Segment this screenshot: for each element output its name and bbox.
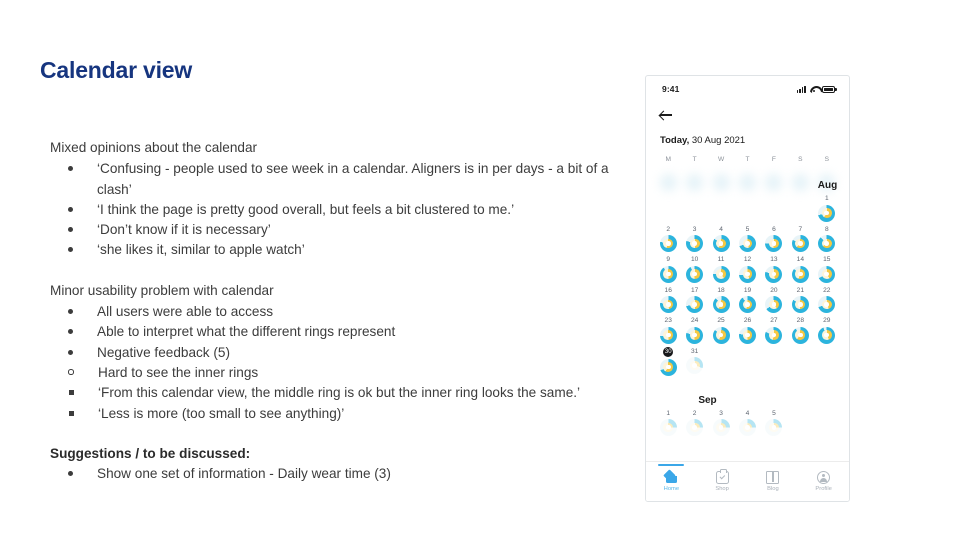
day-ring[interactable]: [686, 327, 703, 344]
nav-back-row: [646, 105, 849, 127]
calendar-day-cell[interactable]: 4: [734, 409, 760, 437]
ring-core: [824, 241, 829, 246]
ring-core: [666, 333, 671, 338]
day-number: 21: [797, 286, 804, 295]
list-item: Show one set of information - Daily wear…: [50, 464, 630, 484]
day-ring[interactable]: [713, 419, 730, 436]
day-ring[interactable]: [765, 296, 782, 313]
calendar-day-cell[interactable]: 5: [734, 225, 760, 253]
wifi-icon: [810, 86, 819, 93]
day-number: 8: [825, 225, 829, 234]
calendar-day-cell[interactable]: 17: [681, 286, 707, 314]
calendar-day-cell[interactable]: 2: [681, 409, 707, 437]
tab-blog[interactable]: Blog: [748, 471, 799, 493]
day-ring[interactable]: [739, 296, 756, 313]
notes-body: Mixed opinions about the calendar ‘Confu…: [50, 138, 630, 484]
day-ring[interactable]: [713, 296, 730, 313]
ring-core: [824, 302, 829, 307]
day-ring[interactable]: [765, 235, 782, 252]
day-number: 12: [744, 255, 751, 264]
day-number: 5: [746, 225, 750, 234]
day-number: 27: [770, 316, 777, 325]
day-ring[interactable]: [739, 327, 756, 344]
day-ring[interactable]: [713, 235, 730, 252]
calendar-week-row: 16171819202122: [655, 286, 840, 314]
calendar-day-cell[interactable]: 31: [681, 347, 707, 376]
day-ring[interactable]: [818, 296, 835, 313]
shop-bag-icon: [716, 471, 729, 484]
active-tab-indicator: [658, 464, 684, 466]
list-item: ‘From this calendar view, the middle rin…: [50, 383, 630, 403]
list-item-text: ‘I think the page is pretty good overall…: [97, 202, 514, 217]
day-number: 2: [693, 409, 697, 418]
weekday-label: W: [708, 156, 734, 163]
today-date: 30 Aug 2021: [689, 135, 745, 146]
day-number: 3: [719, 409, 723, 418]
suggestions-heading: Suggestions / to be discussed:: [50, 444, 630, 464]
calendar-grid[interactable]: Aug1234567891011121314151617181920212223…: [646, 172, 849, 461]
tab-label: Home: [664, 486, 679, 492]
calendar-day-cell[interactable]: 15: [814, 255, 840, 283]
calendar-day-cell[interactable]: 1: [655, 409, 681, 437]
list-item: Hard to see the inner rings: [50, 363, 630, 383]
bullet-square-icon: [69, 390, 74, 395]
bullet-disc-icon: [68, 350, 73, 355]
calendar-day-cell[interactable]: 25: [708, 316, 734, 344]
weekday-label: T: [681, 156, 707, 163]
status-time: 9:41: [662, 84, 679, 94]
day-ring[interactable]: [792, 327, 809, 344]
list-item-text: ‘Confusing - people used to see week in …: [97, 161, 609, 196]
calendar-day-cell[interactable]: 21: [787, 286, 813, 314]
day-number: 28: [797, 316, 804, 325]
day-number: 20: [770, 286, 777, 295]
calendar-day-cell[interactable]: 3: [708, 409, 734, 437]
day-number: 24: [691, 316, 698, 325]
bullet-circle-icon: [68, 369, 74, 375]
day-ring[interactable]: [818, 235, 835, 252]
day-ring[interactable]: [818, 327, 835, 344]
weekday-label: M: [655, 156, 681, 163]
list-item: All users were able to access: [50, 302, 630, 322]
day-number: 5: [772, 409, 776, 418]
day-ring[interactable]: [792, 266, 809, 283]
calendar-day-cell[interactable]: 20: [761, 286, 787, 314]
bullet-disc-icon: [68, 247, 73, 252]
day-ring[interactable]: [818, 266, 835, 283]
section1-list: ‘Confusing - people used to see week in …: [50, 159, 630, 260]
status-bar: 9:41: [646, 76, 849, 102]
tab-profile[interactable]: Profile: [798, 471, 849, 493]
day-number: 19: [744, 286, 751, 295]
weekday-label: F: [761, 156, 787, 163]
calendar-day-cell[interactable]: 2: [655, 225, 681, 253]
day-number: 15: [823, 255, 830, 264]
calendar-day-cell[interactable]: 29: [814, 316, 840, 344]
page-title: Calendar view: [40, 57, 192, 84]
slide: Calendar view Mixed opinions about the c…: [0, 0, 960, 540]
ring-core: [798, 333, 803, 338]
calendar-day-cell[interactable]: 12: [734, 255, 760, 283]
tab-label: Profile: [815, 486, 831, 492]
day-number: 30: [663, 347, 674, 358]
ring-core: [692, 241, 697, 246]
list-item-text: All users were able to access: [97, 304, 273, 319]
list-item-text: Able to interpret what the different rin…: [97, 324, 395, 339]
list-item: ‘I think the page is pretty good overall…: [50, 200, 630, 220]
day-number: 4: [719, 225, 723, 234]
calendar-day-cell[interactable]: 8: [814, 225, 840, 253]
ring-core: [666, 425, 671, 430]
day-ring[interactable]: [818, 205, 835, 222]
calendar-week-row: 23242526272829: [655, 316, 840, 344]
ring-core: [666, 272, 671, 277]
day-number: 16: [665, 286, 672, 295]
day-number: 18: [717, 286, 724, 295]
day-ring[interactable]: [660, 327, 677, 344]
list-item: ‘she likes it, similar to apple watch’: [50, 240, 630, 260]
calendar-week-row: 2345678: [655, 225, 840, 253]
calendar-day-cell[interactable]: 3: [681, 225, 707, 253]
day-ring[interactable]: [739, 419, 756, 436]
calendar-day-cell[interactable]: 9: [655, 255, 681, 283]
tab-shop[interactable]: Shop: [697, 471, 748, 493]
day-ring[interactable]: [765, 419, 782, 436]
month-label: Aug: [815, 180, 840, 191]
calendar-week-row: 1: [655, 194, 840, 222]
list-item: ‘Less is more (too small to see anything…: [50, 404, 630, 424]
signal-bars-icon: [797, 86, 806, 93]
day-number: 9: [666, 255, 670, 264]
section2-sublist: Hard to see the inner rings ‘From this c…: [50, 363, 630, 424]
list-item-text: Hard to see the inner rings: [98, 365, 258, 380]
day-ring[interactable]: [686, 357, 703, 374]
profile-icon: [817, 471, 830, 484]
day-number: 1: [825, 194, 829, 203]
calendar-day-cell[interactable]: 13: [761, 255, 787, 283]
ring-core: [666, 302, 671, 307]
day-ring[interactable]: [660, 359, 677, 376]
calendar-day-cell[interactable]: 24: [681, 316, 707, 344]
bottom-tab-bar: HomeShopBlogProfile: [646, 461, 849, 501]
day-number: 14: [797, 255, 804, 264]
ring-core: [745, 272, 750, 277]
day-number: 29: [823, 316, 830, 325]
calendar-day-cell[interactable]: 27: [761, 316, 787, 344]
day-ring[interactable]: [686, 235, 703, 252]
tab-home[interactable]: Home: [646, 471, 697, 493]
today-label: Today,: [660, 135, 689, 146]
weekday-label: S: [787, 156, 813, 163]
weekday-label: S: [814, 156, 840, 163]
list-item-text: Show one set of information - Daily wear…: [97, 466, 391, 481]
ring-core: [798, 241, 803, 246]
day-number: 23: [665, 316, 672, 325]
day-ring[interactable]: [765, 266, 782, 283]
calendar-week-row: 12345: [655, 409, 840, 437]
spacer: [50, 261, 630, 281]
book-icon: [766, 471, 779, 484]
day-ring[interactable]: [739, 266, 756, 283]
ring-core: [772, 241, 777, 246]
ring-core: [666, 241, 671, 246]
day-ring[interactable]: [739, 235, 756, 252]
day-ring[interactable]: [686, 419, 703, 436]
phone-mockup: 9:41 Today, 30 Aug 2021 M T W T F S: [645, 75, 850, 502]
calendar-day-cell[interactable]: 22: [814, 286, 840, 314]
day-ring[interactable]: [713, 266, 730, 283]
day-number: 25: [717, 316, 724, 325]
calendar-day-cell[interactable]: 18: [708, 286, 734, 314]
bullet-disc-icon: [68, 207, 73, 212]
phone-screen: 9:41 Today, 30 Aug 2021 M T W T F S: [646, 76, 849, 501]
calendar-week-row: 9101112131415: [655, 255, 840, 283]
back-arrow-icon[interactable]: [660, 109, 673, 121]
day-number: 1: [666, 409, 670, 418]
list-item: Negative feedback (5): [50, 343, 630, 363]
calendar-day-cell[interactable]: 30: [655, 347, 681, 376]
list-item-text: ‘Less is more (too small to see anything…: [98, 406, 344, 421]
calendar-day-cell[interactable]: 11: [708, 255, 734, 283]
ring-core: [745, 241, 750, 246]
calendar-day-cell[interactable]: 14: [787, 255, 813, 283]
bullet-disc-icon: [68, 166, 73, 171]
battery-icon: [822, 86, 835, 93]
day-ring[interactable]: [713, 327, 730, 344]
calendar-week-row: 3031: [655, 347, 840, 376]
calendar-day-cell[interactable]: 7: [787, 225, 813, 253]
ring-core: [745, 302, 750, 307]
ring-core: [666, 365, 671, 370]
day-ring[interactable]: [686, 296, 703, 313]
day-ring[interactable]: [765, 327, 782, 344]
bullet-square-icon: [69, 411, 74, 416]
calendar-day-cell[interactable]: 28: [787, 316, 813, 344]
weekday-header: M T W T F S S: [646, 156, 849, 163]
list-item: ‘Don’t know if it is necessary’: [50, 220, 630, 240]
ring-core: [772, 302, 777, 307]
calendar-day-cell[interactable]: 19: [734, 286, 760, 314]
status-icons: [797, 86, 835, 93]
bullet-disc-icon: [68, 227, 73, 232]
day-number: 7: [799, 225, 803, 234]
day-number: 17: [691, 286, 698, 295]
ring-core: [745, 333, 750, 338]
today-header: Today, 30 Aug 2021: [660, 135, 745, 146]
ring-core: [772, 425, 777, 430]
suggestions-list: Show one set of information - Daily wear…: [50, 464, 630, 484]
list-item: ‘Confusing - people used to see week in …: [50, 159, 630, 200]
day-ring[interactable]: [660, 419, 677, 436]
bullet-disc-icon: [68, 309, 73, 314]
list-item-text: ‘Don’t know if it is necessary’: [97, 222, 271, 237]
day-number: 13: [770, 255, 777, 264]
day-ring[interactable]: [660, 266, 677, 283]
calendar-day-cell[interactable]: 10: [681, 255, 707, 283]
day-ring[interactable]: [660, 296, 677, 313]
section2-list: All users were able to access Able to in…: [50, 302, 630, 424]
calendar-day-cell[interactable]: 23: [655, 316, 681, 344]
weekday-label: T: [734, 156, 760, 163]
list-item-text: Negative feedback (5): [97, 345, 230, 360]
day-number: 22: [823, 286, 830, 295]
day-ring[interactable]: [660, 235, 677, 252]
ring-core: [692, 425, 697, 430]
list-item: Able to interpret what the different rin…: [50, 322, 630, 342]
ring-core: [798, 272, 803, 277]
calendar-day-cell[interactable]: 26: [734, 316, 760, 344]
day-number: 2: [666, 225, 670, 234]
tab-label: Shop: [715, 486, 729, 492]
bullet-disc-icon: [68, 329, 73, 334]
home-icon: [665, 471, 678, 484]
section1-heading: Mixed opinions about the calendar: [50, 138, 630, 158]
ring-core: [692, 302, 697, 307]
day-number: 6: [772, 225, 776, 234]
day-number: 10: [691, 255, 698, 264]
day-number: 31: [691, 347, 698, 356]
day-number: 11: [718, 255, 725, 264]
day-number: 3: [693, 225, 697, 234]
day-number: 26: [744, 316, 751, 325]
bullet-disc-icon: [68, 471, 73, 476]
calendar-day-cell[interactable]: 16: [655, 286, 681, 314]
tab-label: Blog: [767, 486, 779, 492]
ring-core: [692, 363, 697, 368]
section2-subsublist: ‘From this calendar view, the middle rin…: [50, 383, 630, 424]
calendar-day-cell[interactable]: 1: [814, 194, 840, 222]
ring-core: [745, 425, 750, 430]
day-ring[interactable]: [792, 296, 809, 313]
day-number: 4: [746, 409, 750, 418]
day-ring[interactable]: [792, 235, 809, 252]
month-label: Sep: [695, 395, 720, 406]
calendar-day-cell[interactable]: 5: [761, 409, 787, 437]
calendar-day-cell[interactable]: 4: [708, 225, 734, 253]
list-item-text: ‘she likes it, similar to apple watch’: [97, 242, 305, 257]
list-item-text: ‘From this calendar view, the middle rin…: [98, 385, 580, 400]
day-ring[interactable]: [686, 266, 703, 283]
section2-heading: Minor usability problem with calendar: [50, 281, 630, 301]
ring-core: [798, 302, 803, 307]
calendar-day-cell[interactable]: 6: [761, 225, 787, 253]
